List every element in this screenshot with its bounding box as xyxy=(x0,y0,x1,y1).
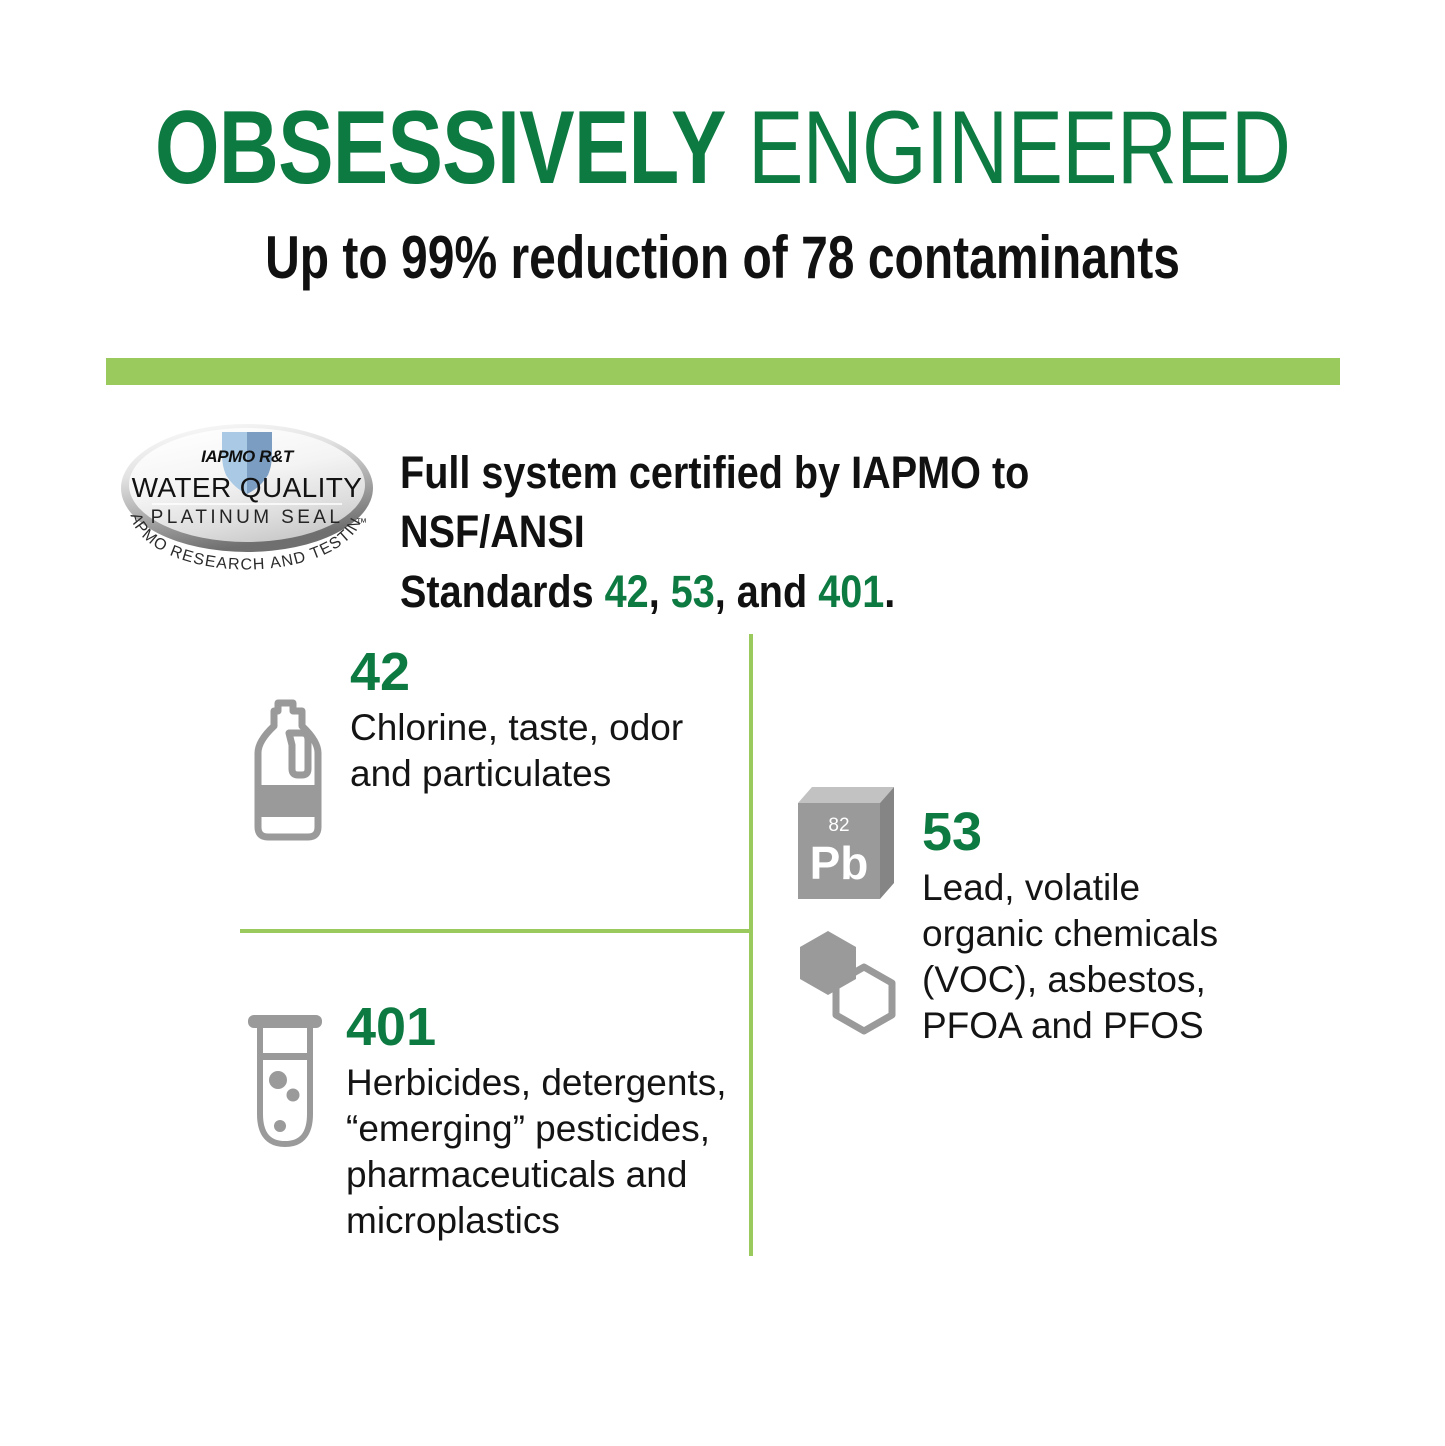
cert-sep-2: , and xyxy=(715,566,818,617)
cert-standard-53: 53 xyxy=(671,566,715,617)
test-tube-icon xyxy=(238,1010,338,1160)
seal-trademark-text: ™ xyxy=(356,517,367,529)
standard-block-53: 82 Pb 53 Lead, volatile organic chemical… xyxy=(790,775,1220,1075)
periodic-tile-icon: 82 Pb xyxy=(798,787,894,899)
element-symbol-text: Pb xyxy=(810,837,869,889)
headline-light: ENGINEERED xyxy=(748,90,1290,206)
headline-space xyxy=(726,90,748,206)
cert-standard-42: 42 xyxy=(605,566,649,617)
cert-period: . xyxy=(884,566,895,617)
seal-graphic: IAPMO R&T WATER QUALITY PLATINUM SEAL IA… xyxy=(118,418,376,578)
page-title: OBSESSIVELY ENGINEERED xyxy=(145,96,1301,200)
seal-brand-text: IAPMO R&T xyxy=(201,447,295,466)
standard-block-42: 42 Chlorine, taste, odor and particulate… xyxy=(240,645,710,845)
certification-statement: Full system certified by IAPMO to NSF/AN… xyxy=(400,443,1218,621)
standard-42-text-group: 42 Chlorine, taste, odor and particulate… xyxy=(350,645,710,797)
cert-line-1: Full system certified by IAPMO to NSF/AN… xyxy=(400,447,1029,557)
seal-line2-text: PLATINUM SEAL xyxy=(151,507,344,528)
standard-42-description: Chlorine, taste, odor and particulates xyxy=(350,705,710,797)
standard-53-number: 53 xyxy=(922,805,1222,859)
standard-401-number: 401 xyxy=(346,1000,746,1054)
headline-strong: OBSESSIVELY xyxy=(155,90,726,206)
vertical-divider-line xyxy=(749,634,753,1256)
standard-401-text-group: 401 Herbicides, detergents, “emerging” p… xyxy=(346,1000,746,1244)
infographic-poster: OBSESSIVELY ENGINEERED Up to 99% reducti… xyxy=(0,0,1445,1446)
cert-standard-401: 401 xyxy=(818,566,884,617)
hexagon-molecule-icon xyxy=(800,931,892,1031)
standard-block-401: 401 Herbicides, detergents, “emerging” p… xyxy=(238,1000,738,1240)
horizontal-divider-line xyxy=(240,929,752,933)
standard-53-description: Lead, volatile organic chemicals (VOC), … xyxy=(922,865,1222,1049)
iapmo-platinum-seal-logo: IAPMO R&T WATER QUALITY PLATINUM SEAL IA… xyxy=(118,418,376,578)
cert-line-2-prefix: Standards xyxy=(400,566,605,617)
cert-sep-1: , xyxy=(649,566,671,617)
standard-42-number: 42 xyxy=(350,645,710,699)
standard-53-text-group: 53 Lead, volatile organic chemicals (VOC… xyxy=(922,805,1222,1049)
element-number-text: 82 xyxy=(828,815,849,836)
page-subtitle: Up to 99% reduction of 78 contaminants xyxy=(145,228,1301,288)
section-divider-bar xyxy=(106,358,1340,385)
jug-icon xyxy=(240,693,340,843)
seal-line1-text: WATER QUALITY xyxy=(132,472,363,503)
standard-401-description: Herbicides, detergents, “emerging” pesti… xyxy=(346,1060,746,1244)
lead-element-icon: 82 Pb xyxy=(790,775,910,1075)
